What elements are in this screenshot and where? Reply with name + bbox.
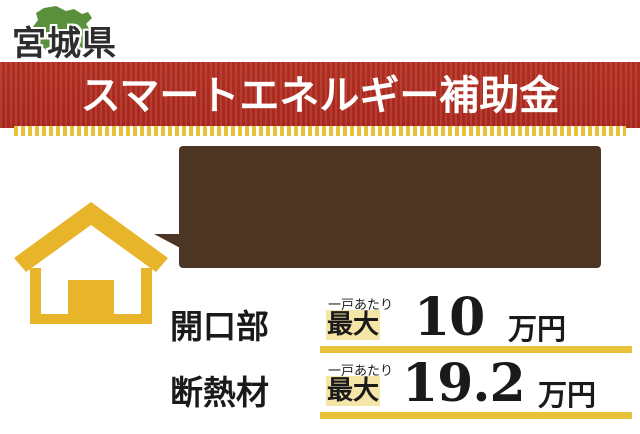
amount-row-unit: 万円 [508,306,566,348]
page-title: スマートエネルギー補助金 [0,60,640,132]
amount-row-label: 開口部 [170,300,269,348]
amount-row-max-label: 最大 [326,310,380,340]
subsidy-banner: スマートエネルギー補助金 宮城県 断熱性向上を伴うリフォーム工事を 実施すると宮… [0,0,640,434]
amount-row-max-label: 最大 [326,376,380,406]
prefecture-badge: 宮城県 [8,6,136,62]
amount-row-label: 断熱材 [170,366,269,414]
amount-row-kaikoubu: 開口部 一戸あたり 最大 10 万円 [170,296,632,356]
house-icon [8,196,174,326]
amount-row-dannetsuzai: 断熱材 一戸あたり 最大 19.2 万円 [170,362,632,422]
amount-row-unit: 万円 [538,372,596,414]
amount-row-value: 10 [414,287,484,348]
info-bubble-tail [154,234,184,250]
prefecture-badge-text: 宮城県 [12,24,117,64]
amount-row-value: 19.2 [402,353,525,414]
prefecture-badge-label: 宮城県 [12,16,117,65]
info-bubble [179,146,601,268]
